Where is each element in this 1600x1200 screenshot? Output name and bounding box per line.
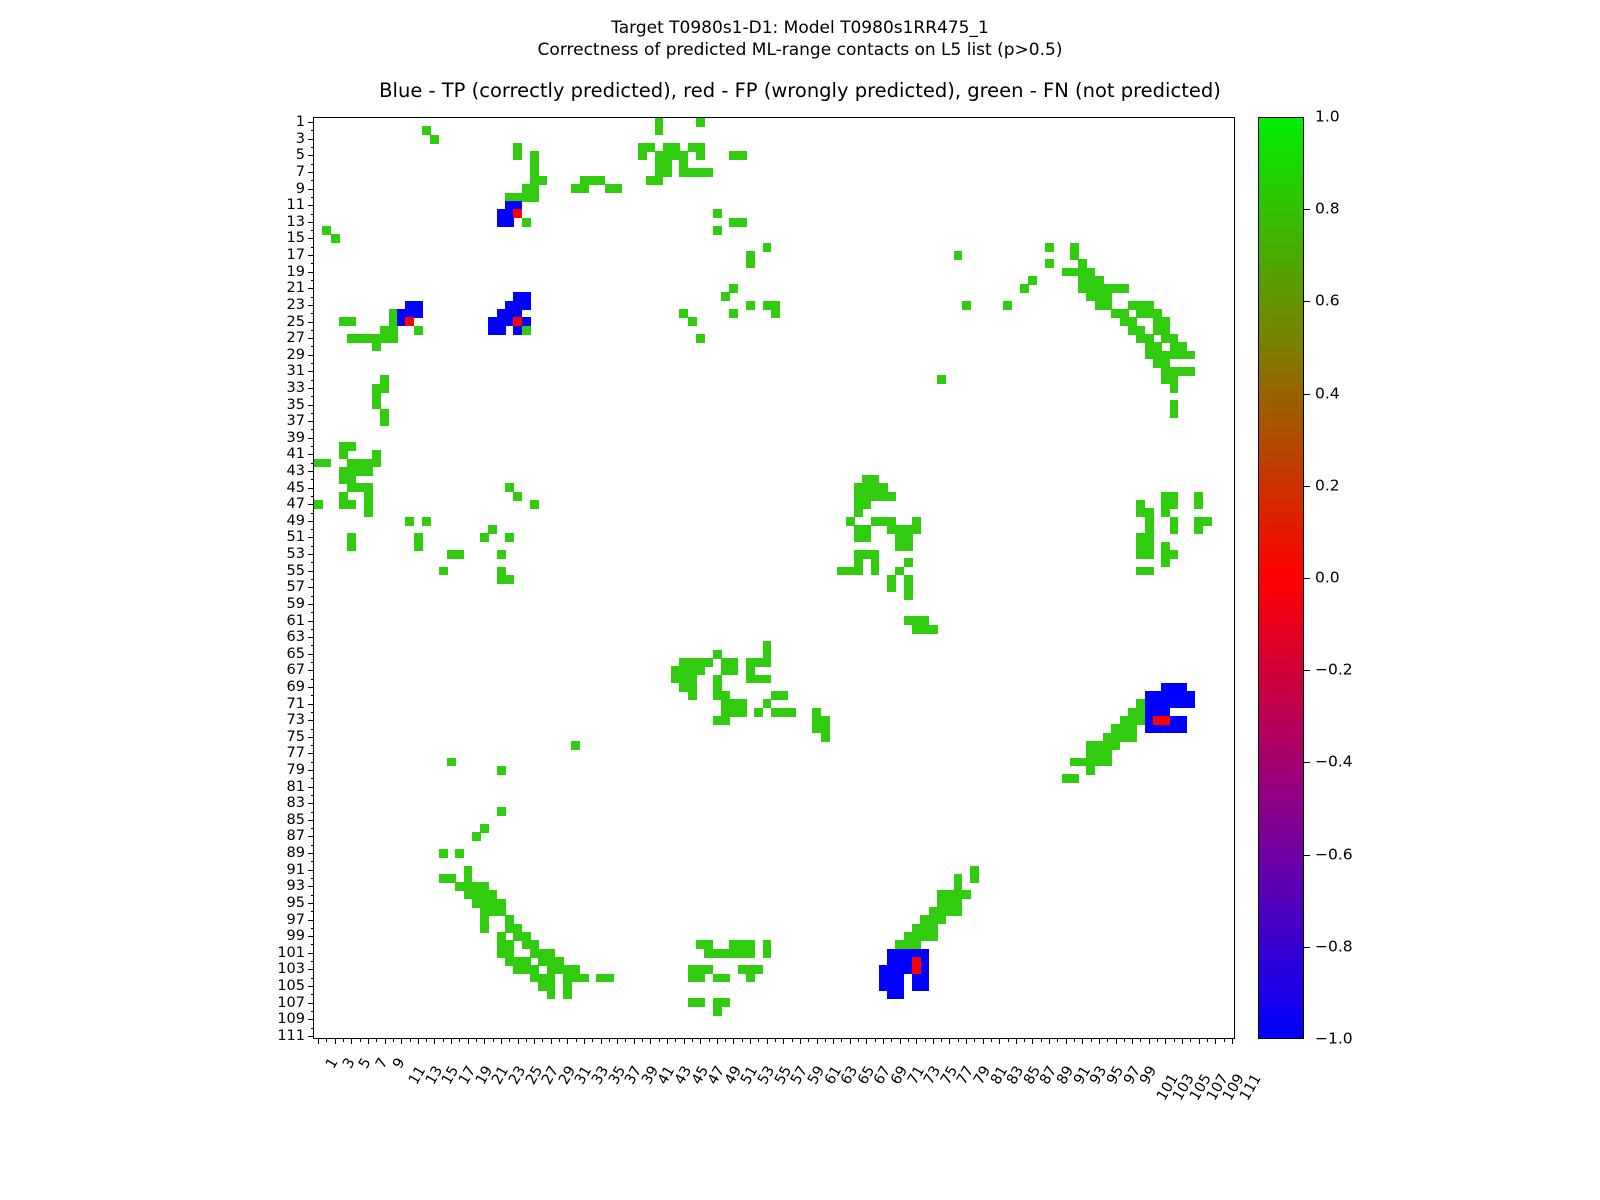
contact-cell-fn [472,832,481,841]
x-tick [468,1038,469,1044]
contact-cell-fn [655,176,664,185]
contact-cell-fn [364,508,373,517]
y-tick-label: 47 [287,497,305,512]
contact-cell-fn [405,517,414,526]
y-tick [311,778,315,779]
y-tick [311,895,315,896]
x-tick [850,1038,851,1044]
y-tick-label: 29 [287,347,305,362]
colorbar-tick [1304,486,1310,487]
y-tick [308,521,314,522]
x-tick [617,1038,618,1044]
y-tick [308,986,314,987]
contact-cell-fn [862,500,871,509]
colorbar-tick-label: −0.8 [1315,939,1353,955]
y-tick-label: 5 [296,148,305,163]
y-tick [308,438,314,439]
contact-cell-fn [497,550,506,559]
contact-cell-fn [513,492,522,501]
y-tick [311,180,315,181]
contact-cell-fn [497,807,506,816]
contact-cell-fn [929,625,938,634]
y-tick [308,155,314,156]
contact-cell-fn [322,459,331,468]
y-tick [311,263,315,264]
y-tick [311,280,315,281]
contact-cell-fn [347,334,356,343]
y-tick [311,546,315,547]
y-tick [311,662,315,663]
y-tick [308,920,314,921]
contact-cell-fn [414,326,423,335]
contact-cell-fn [713,650,722,659]
contact-cell-fn [1145,567,1154,576]
colorbar-tick [1304,394,1310,395]
contact-cell-fp [405,317,414,326]
y-tick-label: 59 [287,597,305,612]
y-tick [311,529,315,530]
x-tick [1008,1038,1009,1042]
y-tick [308,720,314,721]
x-tick [758,1038,759,1042]
x-tick [775,1038,776,1042]
contact-cell-fn [1128,724,1137,733]
contact-cell-fn [1120,733,1129,742]
y-tick [308,122,314,123]
y-tick [311,812,315,813]
y-tick [311,463,315,464]
y-tick [308,571,314,572]
contact-cell-fn [754,708,763,717]
y-tick [308,670,314,671]
contact-cell-fn [738,151,747,160]
y-tick-label: 107 [277,995,305,1010]
contact-cell-fn [729,309,738,318]
contact-cell-fp [513,317,522,326]
x-tick [625,1038,626,1042]
contact-cell-tp [1186,699,1195,708]
y-tick [308,853,314,854]
colorbar-tick-label: 0.4 [1315,386,1340,402]
x-tick [509,1038,510,1042]
contact-cell-fn [522,218,531,227]
contact-cell-fn [904,591,913,600]
y-tick [308,172,314,173]
contact-cell-fn [721,998,730,1007]
x-tick [1232,1038,1233,1044]
y-tick [308,587,314,588]
colorbar-gradient-fill [1259,118,1303,1038]
y-tick-label: 25 [287,314,305,329]
contact-cell-fn [322,226,331,235]
contact-cell-fn [372,342,381,351]
contact-cell-fn [505,533,514,542]
x-tick [817,1038,818,1044]
y-tick [311,845,315,846]
y-tick-label: 109 [277,1012,305,1027]
y-tick-label: 23 [287,298,305,313]
x-tick [1074,1038,1075,1042]
x-tick [966,1038,967,1044]
x-tick [1066,1038,1067,1044]
x-tick [1132,1038,1133,1044]
contact-cell-fn [696,974,705,983]
contact-cell-tp [513,326,522,335]
y-tick [311,729,315,730]
y-tick [311,596,315,597]
y-tick-label: 57 [287,580,305,595]
y-tick [311,396,315,397]
contact-cell-fn [713,1007,722,1016]
x-tick [534,1038,535,1044]
x-tick [949,1038,950,1044]
y-tick-label: 95 [287,896,305,911]
x-tick [800,1038,801,1044]
x-tick [983,1038,984,1044]
x-tick [368,1038,369,1044]
contact-cell-fn [1136,550,1145,559]
contact-cell-fn [1070,774,1079,783]
y-tick [311,214,315,215]
y-tick [308,504,314,505]
x-tick [742,1038,743,1042]
y-tick [311,712,315,713]
contact-cell-fn [721,716,730,725]
y-tick [311,745,315,746]
contact-cell-fp [912,965,921,974]
y-tick [308,322,314,323]
contact-cell-fn [1186,351,1195,360]
y-tick-label: 37 [287,414,305,429]
contact-cell-fn [904,558,913,567]
y-tick [311,961,315,962]
x-tick [567,1038,568,1044]
contact-cell-fn [563,990,572,999]
contact-cell-fn [1170,525,1179,534]
y-tick-label: 41 [287,447,305,462]
x-tick [542,1038,543,1042]
x-tick [725,1038,726,1042]
x-tick [1190,1038,1191,1042]
y-tick-label: 33 [287,381,305,396]
contact-cell-fn [439,567,448,576]
y-tick-label: 7 [296,165,305,180]
colorbar-tick-label: 0.6 [1315,294,1340,310]
contact-cell-fn [655,126,664,135]
y-tick-label: 51 [287,530,305,545]
contact-cell-fn [746,949,755,958]
x-tick [1032,1038,1033,1044]
x-tick-label: 9 [391,1056,408,1071]
y-tick [311,513,315,514]
x-tick [584,1038,585,1044]
x-tick [650,1038,651,1044]
contact-cell-fn [1103,758,1112,767]
y-tick [311,612,315,613]
y-tick [311,762,315,763]
y-tick [308,903,314,904]
y-tick-label: 91 [287,862,305,877]
y-tick [311,911,315,912]
contact-cell-fn [763,243,772,252]
contact-cell-fn [721,974,730,983]
x-tick [642,1038,643,1042]
y-tick [308,537,314,538]
x-tick [418,1038,419,1044]
x-tick [634,1038,635,1044]
contact-cell-fn [488,525,497,534]
contact-cell-fn [954,907,963,916]
y-tick-label: 49 [287,514,305,529]
colorbar-tick [1304,301,1310,302]
x-tick [999,1038,1000,1044]
y-tick [311,330,315,331]
contact-cell-fn [812,724,821,733]
contact-cell-fn [1194,500,1203,509]
y-tick [311,147,315,148]
y-tick [308,238,314,239]
y-tick [308,753,314,754]
contact-cell-fn [455,849,464,858]
contact-cell-fn [1170,500,1179,509]
x-tick [1199,1038,1200,1044]
y-tick-label: 3 [296,132,305,147]
contact-cell-fn [1170,409,1179,418]
x-tick [925,1038,926,1042]
y-tick [308,936,314,937]
x-tick [692,1038,693,1042]
y-tick-label: 75 [287,730,305,745]
x-tick [933,1038,934,1044]
y-tick [311,446,315,447]
x-tick [1057,1038,1058,1042]
y-tick [308,405,314,406]
contact-cell-fn [696,666,705,675]
y-tick-label: 27 [287,331,305,346]
contact-cell-fn [613,184,622,193]
x-tick [974,1038,975,1042]
contact-cell-fn [937,375,946,384]
x-tick [709,1038,710,1042]
contact-cell-tp [522,317,531,326]
y-tick [308,687,314,688]
contact-cell-fn [1028,276,1037,285]
y-tick-label: 53 [287,547,305,562]
contact-cell-fn [696,334,705,343]
y-tick [311,429,315,430]
x-tick [385,1038,386,1044]
contact-cell-fn [821,733,830,742]
contact-cell-tp [1178,699,1187,708]
y-tick [308,803,314,804]
contact-cell-fn [638,151,647,160]
contact-cell-fn [439,849,448,858]
y-tick-label: 83 [287,796,305,811]
contact-map-plot: 1357911131517192123252729313335373941434… [313,117,1235,1039]
contact-cell-fn [347,317,356,326]
contact-cell-fn [704,658,713,667]
contact-cell-fn [912,525,921,534]
y-tick-label: 1 [296,115,305,130]
contact-cell-fn [887,492,896,501]
y-tick-label: 89 [287,846,305,861]
y-tick [311,413,315,414]
contact-cell-fn [962,301,971,310]
x-tick [1174,1038,1175,1042]
x-tick-label: 99 [1138,1064,1160,1087]
x-tick-label: 1 [324,1056,341,1071]
y-tick [311,247,315,248]
y-tick [311,928,315,929]
y-tick [311,828,315,829]
y-tick [308,288,314,289]
y-tick-label: 13 [287,215,305,230]
x-tick [1091,1038,1092,1042]
colorbar-tick-label: 0.8 [1315,201,1340,217]
y-tick [311,878,315,879]
contact-cell-tp [895,974,904,983]
x-tick [401,1038,402,1044]
x-tick [667,1038,668,1044]
chart-titles: Target T0980s1-D1: Model T0980s1RR475_1 … [0,0,1600,103]
colorbar-tick-label: −0.4 [1315,755,1353,771]
contact-cell-fn [447,758,456,767]
contact-cell-fn [580,974,589,983]
contact-cell-fn [1170,384,1179,393]
contact-cell-fn [364,467,373,476]
y-tick [308,1003,314,1004]
x-tick [841,1038,842,1042]
contact-cell-fn [347,542,356,551]
y-tick-label: 79 [287,763,305,778]
y-tick-label: 39 [287,431,305,446]
y-tick [311,313,315,314]
contact-cell-fn [1161,558,1170,567]
title-line-2: Correctness of predicted ML-range contac… [0,39,1600,61]
y-tick-label: 99 [287,929,305,944]
x-tick [1107,1038,1108,1042]
y-tick [308,820,314,821]
y-tick [308,305,314,306]
x-tick [451,1038,452,1044]
contact-cell-fn [746,259,755,268]
contact-cell-tp [505,218,514,227]
y-tick [311,645,315,646]
legend-description: Blue - TP (correctly predicted), red - F… [0,79,1600,103]
x-tick [493,1038,494,1042]
y-tick [311,297,315,298]
y-tick [308,488,314,489]
y-tick [308,554,314,555]
x-tick [1224,1038,1225,1042]
y-tick [308,787,314,788]
contact-cell-fn [945,907,954,916]
contact-cell-fn [347,442,356,451]
y-tick-label: 21 [287,281,305,296]
contact-cell-fn [729,666,738,675]
y-tick-label: 67 [287,663,305,678]
contact-cell-tp [497,326,506,335]
contact-cell-fn [605,974,614,983]
x-tick [1182,1038,1183,1044]
contact-cell-fn [871,475,880,484]
x-tick [700,1038,701,1044]
x-tick [343,1038,344,1042]
y-tick [308,654,314,655]
y-tick [308,969,314,970]
y-tick-label: 19 [287,264,305,279]
y-tick [311,978,315,979]
contact-cell-fn [380,384,389,393]
x-tick [1016,1038,1017,1044]
contact-cell-fn [787,708,796,717]
x-tick [684,1038,685,1044]
x-tick [1140,1038,1141,1042]
y-tick-label: 17 [287,248,305,263]
y-tick-label: 43 [287,464,305,479]
x-tick [326,1038,327,1042]
x-tick [866,1038,867,1044]
contact-cell-fn [729,284,738,293]
contact-cell-fn [1003,301,1012,310]
y-tick [311,1028,315,1029]
colorbar-tick-label: −0.6 [1315,847,1353,863]
contact-cell-fn [480,924,489,933]
colorbar-tick [1304,578,1310,579]
y-tick-label: 77 [287,746,305,761]
contact-cell-fn [663,160,672,169]
colorbar-tick-label: −1.0 [1315,1031,1353,1047]
contact-map-cells [314,118,1234,1038]
contact-cell-tp [522,301,531,310]
y-tick-label: 101 [277,946,305,961]
y-tick-label: 103 [277,962,305,977]
contact-cell-fn [530,500,539,509]
contact-cell-tp [920,982,929,991]
contact-cell-fn [696,998,705,1007]
x-tick [883,1038,884,1044]
contact-cell-fn [347,483,356,492]
y-tick [311,679,315,680]
x-tick [1207,1038,1208,1042]
y-tick [311,861,315,862]
x-tick [1082,1038,1083,1044]
contact-cell-fn [1161,508,1170,517]
contact-cell-fn [513,151,522,160]
y-tick-label: 11 [287,198,305,213]
contact-cell-fn [380,417,389,426]
contact-cell-fn [547,965,556,974]
contact-cell-fn [1194,525,1203,534]
x-tick [900,1038,901,1044]
y-tick [308,637,314,638]
y-tick [311,197,315,198]
y-tick-label: 45 [287,480,305,495]
contact-cell-tp [414,309,423,318]
x-tick [526,1038,527,1042]
contact-cell-fp [1161,716,1170,725]
contact-cell-fn [547,990,556,999]
y-tick-label: 9 [296,181,305,196]
x-tick [601,1038,602,1044]
y-tick [308,471,314,472]
contact-cell-fn [1111,741,1120,750]
y-tick [311,579,315,580]
y-tick [311,130,315,131]
contact-cell-fn [1020,284,1029,293]
y-tick-label: 63 [287,630,305,645]
x-tick [1124,1038,1125,1042]
